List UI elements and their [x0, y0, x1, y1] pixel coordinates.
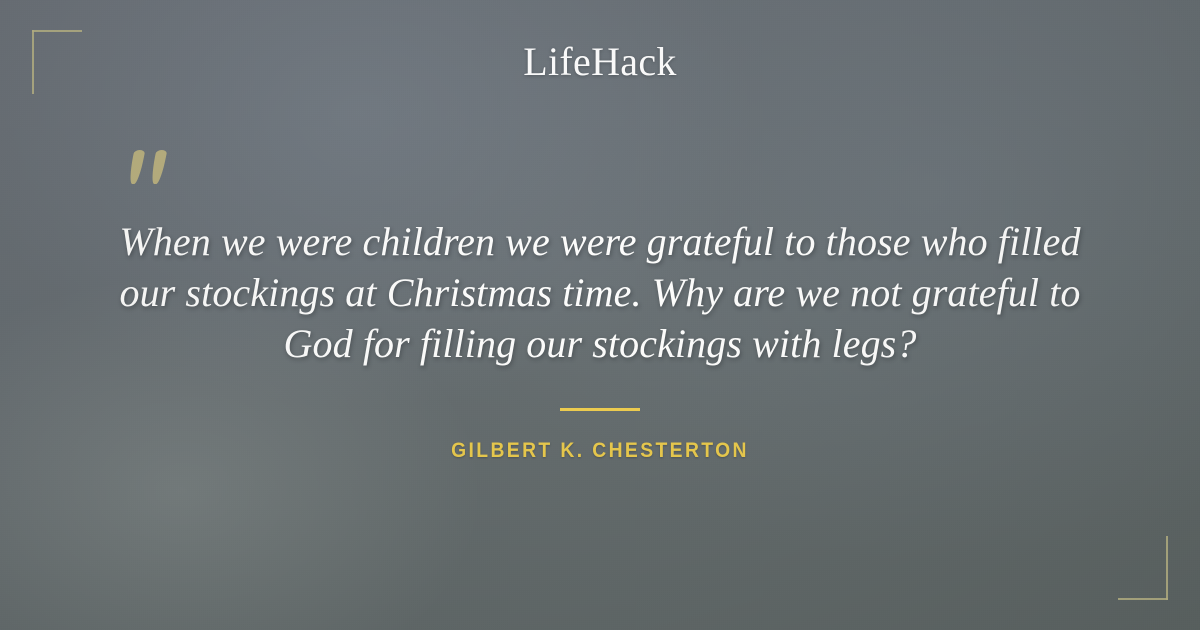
quote-card: LifeHack When we were children we were g…	[0, 0, 1200, 630]
bracket-horizontal-bar	[32, 30, 82, 32]
double-quote-mark-icon	[131, 150, 179, 192]
quote-mark-stroke-left	[128, 150, 146, 184]
corner-bracket-bottom-right-icon	[1118, 536, 1168, 600]
bracket-horizontal-bar	[1118, 598, 1168, 600]
quote-text: When we were children we were grateful t…	[95, 216, 1105, 369]
quote-mark-stroke-right	[150, 150, 168, 184]
quote-line: our stockings at Christmas time. Why are…	[95, 267, 1105, 318]
quote-line: When we were children we were grateful t…	[95, 216, 1105, 267]
brand-logo[interactable]: LifeHack	[0, 38, 1200, 86]
attribution-divider	[560, 408, 640, 411]
attribution-author-name: GILBERT K. CHESTERTON	[48, 438, 1152, 464]
quote-line: God for filling our stockings with legs?	[95, 318, 1105, 369]
bracket-vertical-bar	[1166, 536, 1168, 600]
